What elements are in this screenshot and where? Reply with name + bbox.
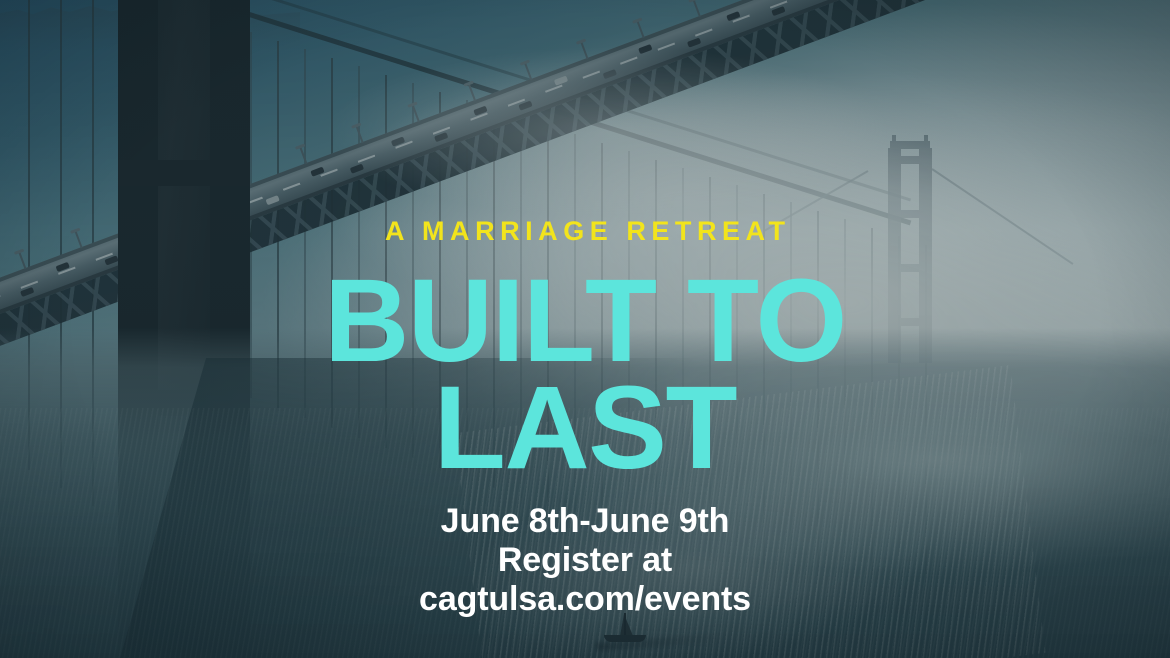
register-url: cagtulsa.com/events xyxy=(419,580,751,619)
event-details: June 8th-June 9th Register at cagtulsa.c… xyxy=(419,502,751,620)
headline-line-2: LAST xyxy=(324,372,846,485)
eyebrow-text: A MARRIAGE RETREAT xyxy=(379,218,790,245)
marriage-retreat-poster: A MARRIAGE RETREAT BUILT TO LAST June 8t… xyxy=(0,0,1170,658)
event-dates: June 8th-June 9th xyxy=(419,502,751,541)
page-title: BUILT TO LAST xyxy=(324,265,846,486)
register-label: Register at xyxy=(419,541,751,580)
poster-text-block: A MARRIAGE RETREAT BUILT TO LAST June 8t… xyxy=(0,0,1170,658)
